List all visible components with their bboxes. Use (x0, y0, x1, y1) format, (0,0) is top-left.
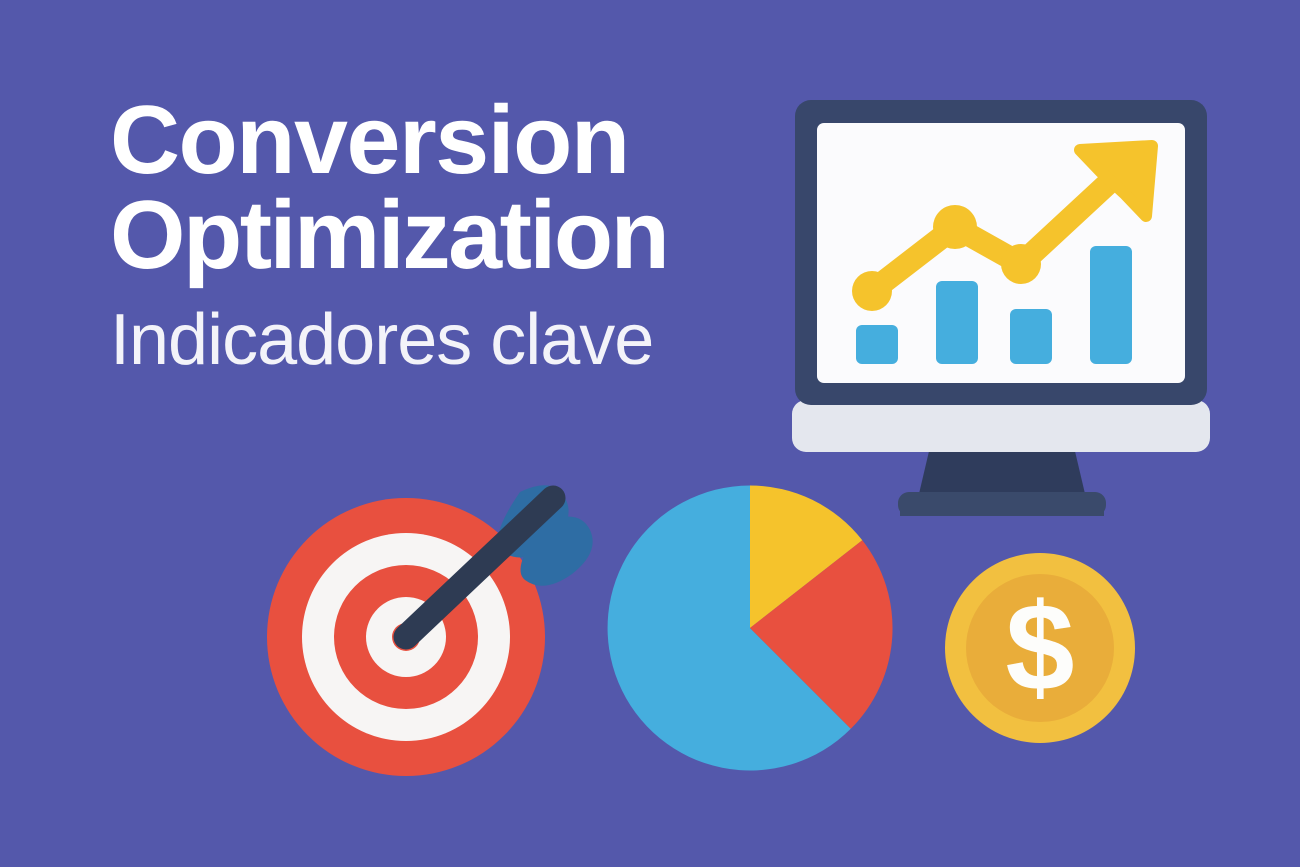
trend-node-3 (1001, 244, 1041, 284)
monitor-stand-base-bar (898, 492, 1106, 516)
dollar-sign-icon: $ (1006, 579, 1075, 717)
trend-node-1 (852, 271, 892, 311)
dollar-coin: $ (945, 553, 1135, 743)
bar-2 (936, 281, 978, 364)
headline-block: Conversion Optimization Indicadores clav… (110, 92, 810, 379)
bar-3 (1010, 309, 1052, 364)
monitor-chin (792, 400, 1210, 452)
page-subtitle: Indicadores clave (110, 303, 810, 379)
bar-4 (1090, 246, 1132, 364)
bar-1 (856, 325, 898, 364)
pie-chart (608, 486, 893, 771)
trend-node-2 (933, 205, 977, 249)
page-title-line-1: Conversion (110, 92, 810, 187)
target-with-dart (267, 485, 593, 776)
poster-canvas: $ Conversion Optimization Indicadores cl… (0, 0, 1300, 867)
desktop-monitor (792, 100, 1210, 516)
page-title-line-2: Optimization (110, 187, 810, 282)
